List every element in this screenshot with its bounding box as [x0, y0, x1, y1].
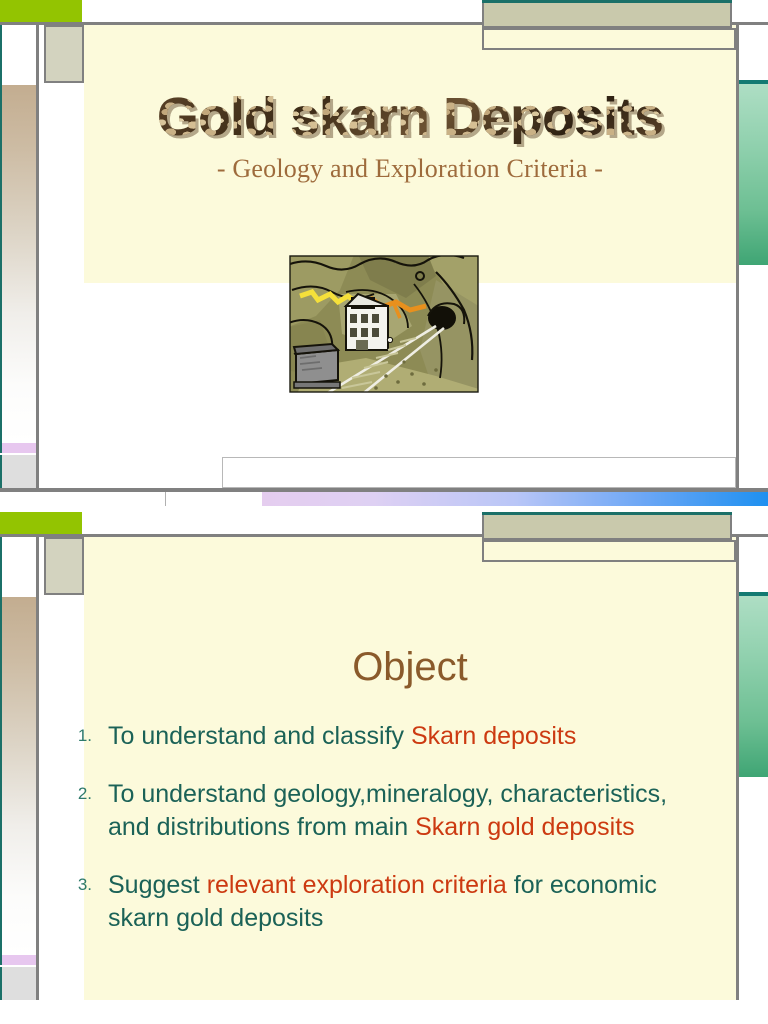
top-right-white-block: [736, 0, 768, 22]
list-item-text: To understand geology,mineralogy, charac…: [108, 778, 708, 845]
top-right-white-block-2: [736, 512, 768, 534]
left-column-white-top-2: [0, 537, 36, 597]
left-column-gray-block-2: [0, 967, 36, 1000]
run-normal: Suggest: [108, 871, 207, 899]
left-vertical-rule-2: [36, 537, 39, 1000]
page-subtitle: - Geology and Exploration Criteria -: [84, 154, 736, 184]
right-vertical-rule: [736, 25, 739, 488]
left-column-gray-block: [0, 455, 36, 488]
top-green-accent-block-2: [0, 512, 82, 534]
slide-1-title-block: Gold skarn Deposits - Geology and Explor…: [84, 90, 736, 184]
run-highlight: relevant exploration criteria: [207, 871, 514, 899]
right-white-bottom: [739, 265, 768, 488]
objectives-list: 1. To understand and classify Skarn depo…: [58, 720, 708, 960]
left-column-lavender-block-2: [0, 955, 36, 965]
top-tan-block: [482, 0, 732, 28]
right-white-top: [739, 25, 768, 80]
upper-left-tan-block: [44, 25, 84, 83]
list-item-text: Suggest relevant exploration criteria fo…: [108, 869, 708, 936]
top-tan-teal-line-2: [482, 512, 732, 515]
run-highlight: Skarn gold deposits: [415, 813, 635, 841]
upper-right-outline-box: [482, 28, 736, 50]
top-tan-teal-line: [482, 0, 732, 3]
right-white-bottom-2: [739, 777, 768, 1000]
list-item-number: 2.: [58, 778, 108, 804]
left-column-lavender-block: [0, 443, 36, 453]
mine-interior-clipart: [286, 250, 482, 398]
bottom-white-segment-2: [166, 492, 262, 506]
upper-left-tan-block-2: [44, 537, 84, 595]
top-tan-block-2: [482, 512, 732, 540]
top-white-block: [82, 0, 482, 22]
left-column-gradient-2: [0, 597, 36, 955]
right-white-top-2: [739, 537, 768, 592]
run-highlight: Skarn deposits: [411, 722, 576, 750]
bottom-white-segment-1: [26, 492, 166, 506]
list-item-number: 3.: [58, 869, 108, 895]
bottom-outline-box: [222, 457, 736, 488]
slide-deck: Gold skarn Deposits - Geology and Explor…: [0, 0, 768, 1024]
left-column-gradient: [0, 85, 36, 443]
left-vertical-rule: [36, 25, 39, 488]
top-green-accent-block: [0, 0, 82, 22]
run-normal: To understand and classify: [108, 722, 411, 750]
upper-right-outline-box-2: [482, 540, 736, 562]
bottom-gradient-bar: [262, 492, 768, 506]
list-item-text: To understand and classify Skarn deposit…: [108, 720, 576, 754]
page-title: Gold skarn Deposits: [157, 90, 663, 144]
list-item: 2. To understand geology,mineralogy, cha…: [58, 778, 708, 845]
right-green-gradient-bar: [739, 80, 768, 265]
list-item-number: 1.: [58, 720, 108, 746]
slide-2-heading: Object: [84, 645, 736, 690]
left-column-white-top: [0, 25, 36, 85]
list-item: 3. Suggest relevant exploration criteria…: [58, 869, 708, 936]
right-vertical-rule-2: [736, 537, 739, 1000]
list-item: 1. To understand and classify Skarn depo…: [58, 720, 708, 754]
right-green-gradient-bar-2: [739, 592, 768, 777]
bottom-horizontal-rule: [0, 488, 768, 492]
slide-1[interactable]: Gold skarn Deposits - Geology and Explor…: [0, 0, 768, 512]
top-white-block-2: [82, 512, 482, 534]
